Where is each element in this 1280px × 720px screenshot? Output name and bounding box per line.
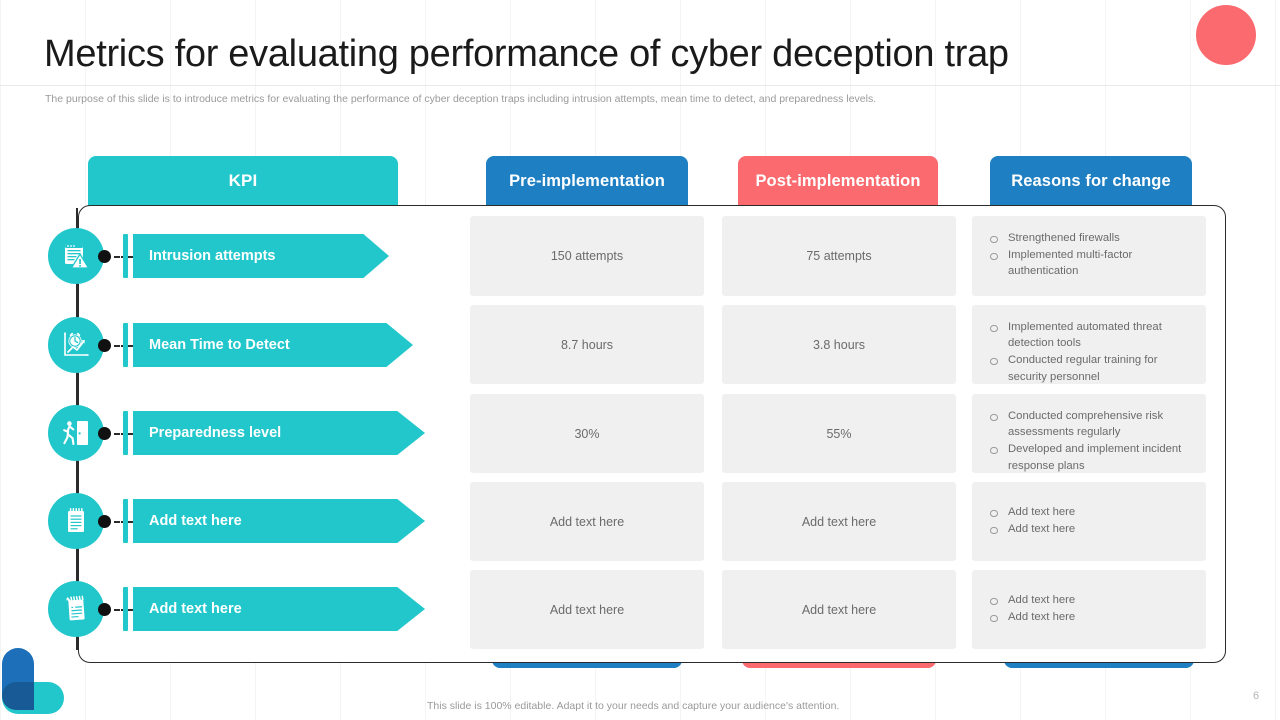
kpi-label-text: Preparedness level [149, 425, 281, 441]
connector-dot [98, 250, 111, 263]
cell-pre-row-3: 30% [470, 394, 704, 473]
cell-post-row-1: 75 attempts [722, 216, 956, 296]
clock-chart-icon [48, 317, 104, 373]
reasons-list: Conducted comprehensive risk assessments… [988, 408, 1196, 474]
cell-value: 75 attempts [806, 249, 871, 263]
connector-dot [98, 515, 111, 528]
column-header-kpi-label: KPI [229, 171, 258, 191]
cell-value: 150 attempts [551, 249, 623, 263]
kpi-label-text: Add text here [149, 601, 242, 617]
reasons-list: Implemented automated threat detection t… [988, 319, 1196, 385]
column-header-reasons-for-change-label: Reasons for change [1011, 172, 1171, 191]
cell-pre-row-2: 8.7 hours [470, 305, 704, 384]
cell-value: 8.7 hours [561, 338, 613, 352]
emergency-exit-icon [48, 405, 104, 461]
cell-post-row-4: Add text here [722, 482, 956, 561]
kpi-label-intrusion-attempts[interactable]: Intrusion attempts [133, 234, 389, 278]
list-item: Developed and implement incident respons… [988, 441, 1196, 473]
column-header-reasons-for-change[interactable]: Reasons for change [990, 156, 1192, 206]
kpi-label-preparedness-level[interactable]: Preparedness level [133, 411, 425, 455]
page-subtitle: The purpose of this slide is to introduc… [45, 92, 1125, 107]
cell-post-row-2: 3.8 hours [722, 305, 956, 384]
list-item: Implemented multi-factor authentication [988, 247, 1196, 279]
list-item: Conducted regular training for security … [988, 352, 1196, 384]
kpi-label-mean-time-to-detect[interactable]: Mean Time to Detect [133, 323, 413, 367]
connector-dot [98, 427, 111, 440]
kpi-label-text: Add text here [149, 513, 242, 529]
list-item: Strengthened firewalls [988, 230, 1196, 246]
list-item: Add text here [988, 521, 1196, 537]
cell-value: 55% [826, 427, 851, 441]
cell-post-row-3: 55% [722, 394, 956, 473]
intrusion-alert-icon [48, 228, 104, 284]
title-divider [0, 85, 1280, 86]
cell-value: Add text here [550, 603, 624, 617]
bottom-left-overlap-decoration [2, 682, 34, 710]
page-number: 6 [1253, 690, 1259, 702]
column-header-kpi[interactable]: KPI [88, 156, 398, 206]
top-right-circle-decoration [1196, 5, 1256, 65]
kpi-accent-tick [123, 587, 128, 631]
kpi-accent-tick [123, 234, 128, 278]
reasons-list: Add text here Add text here [988, 592, 1196, 625]
cell-value: 30% [574, 427, 599, 441]
column-header-post-implementation[interactable]: Post-implementation [738, 156, 938, 206]
cell-reasons-row-4: Add text here Add text here [972, 482, 1206, 561]
connector-dot [98, 339, 111, 352]
page-title: Metrics for evaluating performance of cy… [44, 28, 1104, 80]
kpi-label-row-4[interactable]: Add text here [133, 499, 425, 543]
reasons-list: Add text here Add text here [988, 504, 1196, 537]
slide-canvas: Metrics for evaluating performance of cy… [0, 0, 1280, 720]
kpi-accent-tick [123, 323, 128, 367]
kpi-label-text: Intrusion attempts [149, 248, 275, 264]
list-item: Add text here [988, 504, 1196, 520]
kpi-accent-tick [123, 499, 128, 543]
cell-reasons-row-5: Add text here Add text here [972, 570, 1206, 649]
kpi-label-row-5[interactable]: Add text here [133, 587, 425, 631]
column-header-pre-implementation-label: Pre-implementation [509, 172, 665, 191]
column-header-pre-implementation[interactable]: Pre-implementation [486, 156, 688, 206]
list-item: Implemented automated threat detection t… [988, 319, 1196, 351]
slide-footnote: This slide is 100% editable. Adapt it to… [427, 700, 839, 712]
cell-pre-row-5: Add text here [470, 570, 704, 649]
kpi-label-text: Mean Time to Detect [149, 337, 290, 353]
cell-value: Add text here [802, 603, 876, 617]
cell-value: Add text here [550, 515, 624, 529]
connector-dot [98, 603, 111, 616]
reasons-list: Strengthened firewalls Implemented multi… [988, 230, 1196, 280]
cell-reasons-row-2: Implemented automated threat detection t… [972, 305, 1206, 384]
cell-pre-row-1: 150 attempts [470, 216, 704, 296]
cell-reasons-row-3: Conducted comprehensive risk assessments… [972, 394, 1206, 473]
list-item: Conducted comprehensive risk assessments… [988, 408, 1196, 440]
notepad-pen-icon [48, 581, 104, 637]
column-header-post-implementation-label: Post-implementation [755, 172, 920, 191]
cell-value: Add text here [802, 515, 876, 529]
kpi-accent-tick [123, 411, 128, 455]
cell-pre-row-4: Add text here [470, 482, 704, 561]
cell-post-row-5: Add text here [722, 570, 956, 649]
cell-reasons-row-1: Strengthened firewalls Implemented multi… [972, 216, 1206, 296]
cell-value: 3.8 hours [813, 338, 865, 352]
list-item: Add text here [988, 592, 1196, 608]
list-item: Add text here [988, 609, 1196, 625]
notepad-icon [48, 493, 104, 549]
